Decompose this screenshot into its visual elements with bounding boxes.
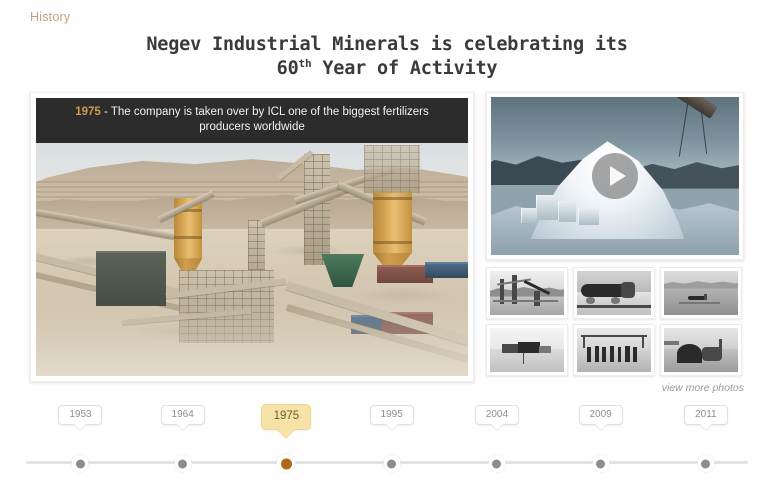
- timeline-year-label: 2009: [579, 405, 623, 425]
- photo-thumbnail-grid: [486, 267, 744, 376]
- video-player[interactable]: [486, 92, 744, 260]
- timeline-year-label-active: 1975: [261, 404, 311, 430]
- history-timeline: 1953 1964 1975 1995 2004 2009 2011: [0, 404, 774, 480]
- video-thumbnail: [491, 97, 739, 255]
- thumbnail-item[interactable]: [486, 267, 568, 319]
- play-icon[interactable]: [592, 153, 638, 199]
- timeline-dot[interactable]: [488, 455, 505, 472]
- page-title-line2-rest: Year of Activity: [311, 58, 497, 79]
- thumbnail-item[interactable]: [573, 324, 655, 376]
- caption-year: 1975: [75, 106, 101, 118]
- media-column: view more photos: [486, 92, 744, 394]
- breadcrumb-history[interactable]: History: [30, 10, 70, 24]
- content-stage: 1975 - The company is taken over by ICL …: [0, 88, 774, 394]
- timeline-dot[interactable]: [72, 455, 89, 472]
- thumbnail-image: [664, 328, 738, 372]
- timeline-node-1964[interactable]: 1964: [161, 404, 205, 425]
- timeline-dot[interactable]: [592, 455, 609, 472]
- timeline-dot-active[interactable]: [277, 454, 296, 473]
- timeline-node-2004[interactable]: 2004: [475, 404, 519, 425]
- timeline-year-label: 1964: [161, 405, 205, 425]
- main-photo: 1975 - The company is taken over by ICL …: [36, 98, 468, 376]
- timeline-node-2011[interactable]: 2011: [684, 404, 728, 425]
- page-title-line1: Negev Industrial Minerals is celebrating…: [146, 34, 627, 55]
- thumbnail-image: [577, 271, 651, 315]
- timeline-year-label: 1953: [58, 405, 102, 425]
- timeline-node-2009[interactable]: 2009: [579, 404, 623, 425]
- caption-text: - The company is taken over by ICL one o…: [101, 106, 429, 133]
- page-title: Negev Industrial Minerals is celebrating…: [0, 33, 774, 81]
- photo-caption: 1975 - The company is taken over by ICL …: [36, 98, 468, 143]
- timeline-year-label: 1995: [370, 405, 414, 425]
- thumbnail-image: [490, 271, 564, 315]
- thumbnail-image: [577, 328, 651, 372]
- timeline-dot[interactable]: [174, 455, 191, 472]
- timeline-node-1975[interactable]: 1975: [261, 404, 311, 430]
- view-more-photos-link[interactable]: view more photos: [486, 382, 744, 394]
- timeline-dot[interactable]: [383, 455, 400, 472]
- thumbnail-item[interactable]: [486, 324, 568, 376]
- timeline-year-label: 2011: [684, 405, 728, 425]
- thumbnail-item[interactable]: [660, 324, 742, 376]
- page-title-anniversary-number: 60: [277, 58, 299, 79]
- thumbnail-item[interactable]: [573, 267, 655, 319]
- timeline-year-label: 2004: [475, 405, 519, 425]
- timeline-dot[interactable]: [697, 455, 714, 472]
- thumbnail-item[interactable]: [660, 267, 742, 319]
- timeline-node-1953[interactable]: 1953: [58, 404, 102, 425]
- thumbnail-image: [664, 271, 738, 315]
- page-title-ordinal-suffix: th: [299, 57, 312, 70]
- thumbnail-image: [490, 328, 564, 372]
- main-photo-card[interactable]: 1975 - The company is taken over by ICL …: [30, 92, 474, 382]
- timeline-node-1995[interactable]: 1995: [370, 404, 414, 425]
- page-title-line2: 60th Year of Activity: [0, 57, 774, 81]
